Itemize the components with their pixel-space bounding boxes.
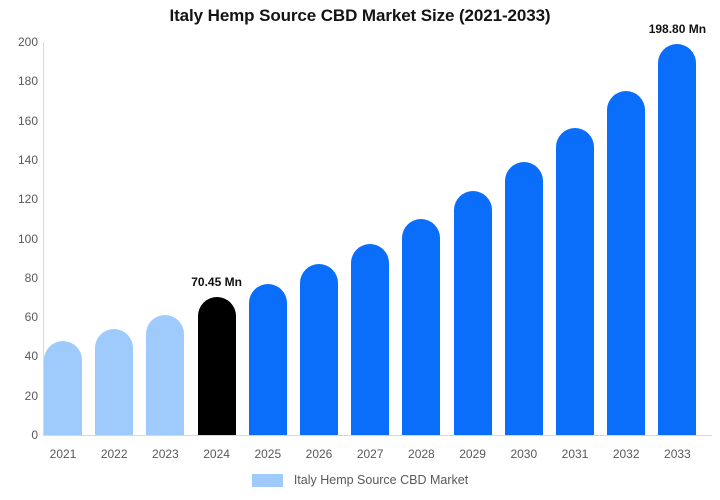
y-axis-tick-0: 0: [0, 428, 38, 442]
plot-area: [44, 42, 712, 435]
y-axis-tick-160: 160: [0, 114, 38, 128]
bar-2028[interactable]: [402, 219, 440, 435]
y-axis-tick-140: 140: [0, 153, 38, 167]
bar-2030[interactable]: [505, 162, 543, 435]
chart-container: Italy Hemp Source CBD Market Size (2021-…: [0, 0, 720, 500]
y-axis-tick-20: 20: [0, 389, 38, 403]
bar-value-label-2033: 198.80 Mn: [649, 22, 706, 36]
y-axis-tick-200: 200: [0, 35, 38, 49]
chart-title: Italy Hemp Source CBD Market Size (2021-…: [0, 6, 720, 26]
y-axis-tick-40: 40: [0, 349, 38, 363]
bar-2033[interactable]: [658, 44, 696, 435]
y-axis-tick-180: 180: [0, 74, 38, 88]
bar-2025[interactable]: [249, 284, 287, 435]
bar-2024[interactable]: [198, 297, 236, 435]
bar-2026[interactable]: [300, 264, 338, 435]
legend-label-italy-hemp-source-cbd-market: Italy Hemp Source CBD Market: [294, 473, 468, 487]
bar-2023[interactable]: [146, 315, 184, 435]
bar-2022[interactable]: [95, 329, 133, 435]
bar-2031[interactable]: [556, 128, 594, 435]
x-axis-tick-2033: 2033: [647, 447, 707, 461]
bar-2027[interactable]: [351, 244, 389, 435]
bar-2029[interactable]: [454, 191, 492, 435]
chart-legend: Italy Hemp Source CBD Market: [0, 473, 720, 487]
bar-value-label-2024: 70.45 Mn: [191, 275, 242, 289]
legend-swatch-italy-hemp-source-cbd-market: [252, 474, 283, 487]
bar-2032[interactable]: [607, 91, 645, 435]
y-axis-tick-120: 120: [0, 192, 38, 206]
y-axis-tick-80: 80: [0, 271, 38, 285]
y-axis-tick-60: 60: [0, 310, 38, 324]
bar-2021[interactable]: [44, 341, 82, 435]
y-axis-tick-100: 100: [0, 232, 38, 246]
x-axis-line: [43, 435, 712, 436]
